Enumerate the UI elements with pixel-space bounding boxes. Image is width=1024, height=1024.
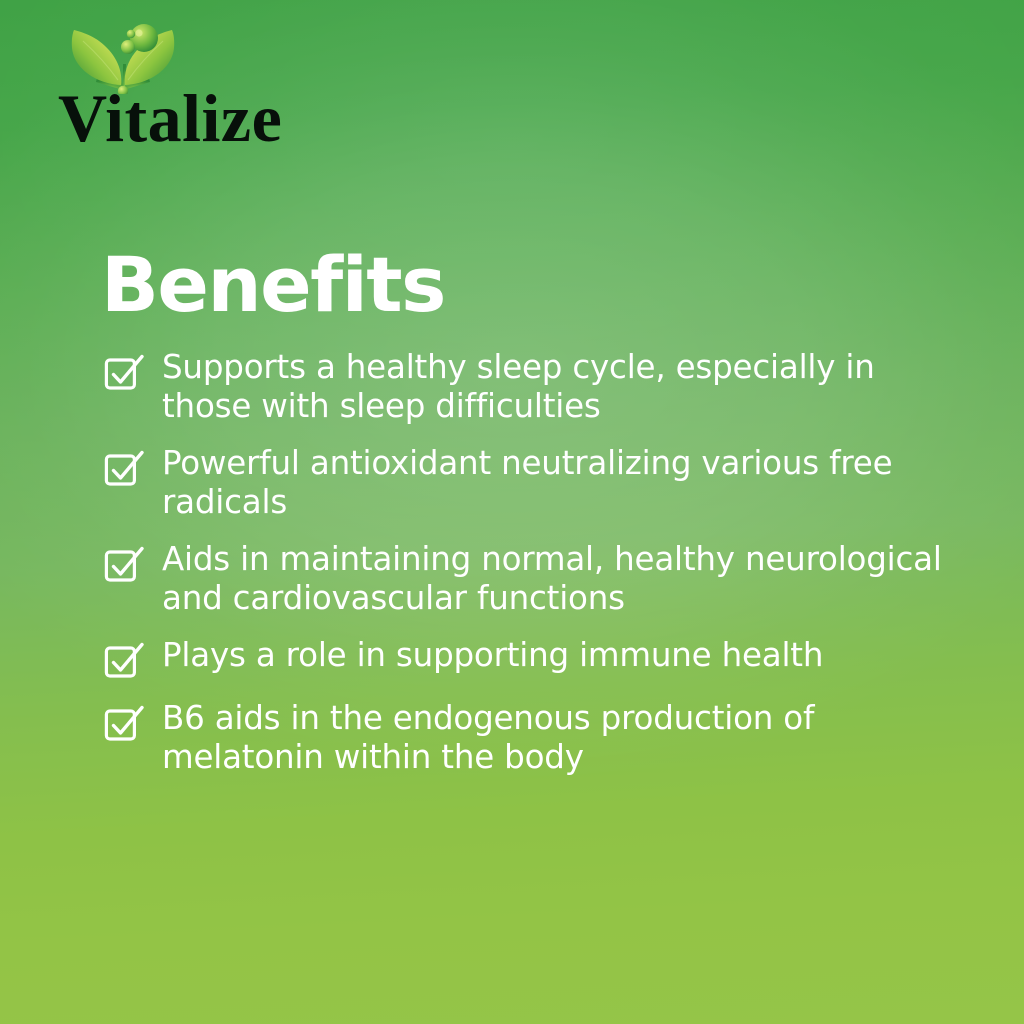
benefit-text: Plays a role in supporting immune health: [162, 636, 823, 675]
benefit-item: B6 aids in the endogenous production of …: [104, 699, 964, 777]
benefit-text: B6 aids in the endogenous production of …: [162, 699, 952, 777]
benefit-text: Powerful antioxidant neutralizing variou…: [162, 444, 952, 522]
benefit-item: Supports a healthy sleep cycle, especial…: [104, 348, 964, 426]
checkbox-check-icon: [104, 641, 146, 681]
checkbox-check-icon: [104, 449, 146, 489]
brand-wordmark: Vitalize: [58, 84, 282, 152]
benefit-text: Aids in maintaining normal, healthy neur…: [162, 540, 952, 618]
benefits-list: Supports a healthy sleep cycle, especial…: [104, 348, 964, 777]
page-title: Benefits: [101, 242, 445, 328]
checkbox-check-icon: [104, 545, 146, 585]
benefit-item: Plays a role in supporting immune health: [104, 636, 964, 681]
benefits-poster: Vitalize Benefits Supports a healthy sle…: [0, 0, 1024, 1024]
checkbox-check-icon: [104, 353, 146, 393]
benefit-item: Aids in maintaining normal, healthy neur…: [104, 540, 964, 618]
checkbox-check-icon: [104, 704, 146, 744]
brand-logo: Vitalize: [58, 22, 398, 152]
benefit-text: Supports a healthy sleep cycle, especial…: [162, 348, 952, 426]
benefit-item: Powerful antioxidant neutralizing variou…: [104, 444, 964, 522]
